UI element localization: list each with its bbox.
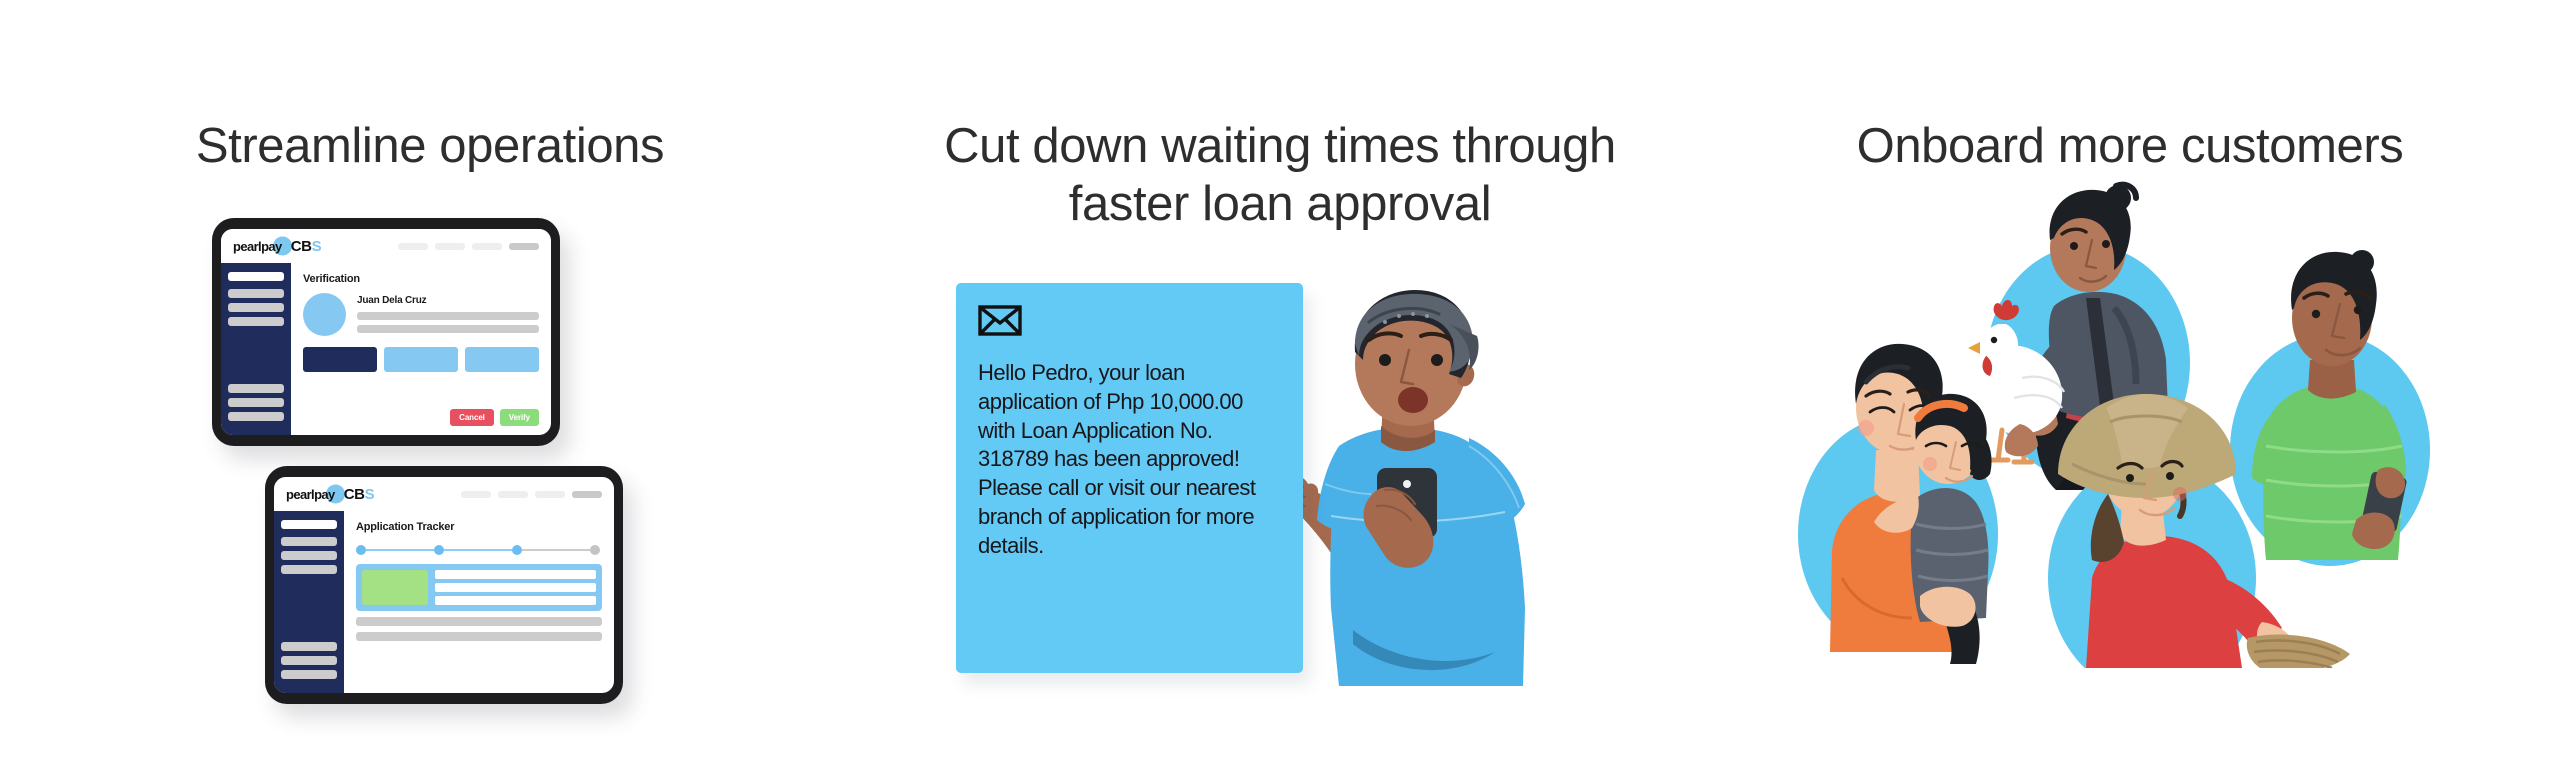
app-topbar: pearlpay CBS: [221, 229, 551, 263]
step-line-1: [366, 549, 434, 552]
logo-wordmark-2: pearlpay: [286, 487, 335, 502]
nav-placeholder-3[interactable]: [472, 243, 502, 250]
tracker-bar-1: [435, 570, 596, 579]
panel-heading-middle-line2: faster loan approval: [860, 176, 1700, 234]
pearlpay-logo-2: pearlpay: [286, 487, 335, 502]
sidebar-2-spacer: [281, 579, 337, 642]
tracker-row-placeholder-1: [356, 617, 602, 626]
document-tiles[interactable]: [303, 347, 539, 372]
topbar-nav-placeholders-2[interactable]: [461, 491, 602, 498]
sidebar-item-5[interactable]: [228, 384, 284, 393]
step-dot-3[interactable]: [512, 545, 522, 555]
tracker-content: Application Tracker: [344, 511, 614, 693]
panel-streamline-operations: Streamline operations pearlpay CBS: [0, 0, 860, 776]
nav-placeholder-1[interactable]: [398, 243, 428, 250]
document-tile-1[interactable]: [303, 347, 377, 372]
verify-button[interactable]: Verify: [500, 409, 539, 426]
tablet-tracker-screen: pearlpay CBS: [274, 477, 614, 693]
customer-name: Juan Dela Cruz: [357, 295, 539, 306]
cbs-wordmark: CBS: [291, 238, 321, 255]
sidebar-2-item-7[interactable]: [281, 670, 337, 679]
step-dot-1[interactable]: [356, 545, 366, 555]
step-dot-4[interactable]: [590, 545, 600, 555]
panel-heading-middle-line1: Cut down waiting times through: [860, 118, 1700, 176]
envelope-icon: [978, 305, 1022, 336]
tracker-highlight-card: [356, 564, 602, 611]
tablet-application-tracker: pearlpay CBS: [265, 466, 623, 704]
panel-heading-middle: Cut down waiting times through faster lo…: [860, 118, 1700, 234]
cancel-button[interactable]: Cancel: [450, 409, 494, 426]
customer-circle-parent-and-child: [1798, 344, 1998, 664]
tracker-bar-3: [435, 596, 596, 605]
tracker-detail-bars: [435, 570, 596, 605]
topbar-nav-placeholders[interactable]: [398, 243, 539, 250]
sidebar-item-2[interactable]: [228, 289, 284, 298]
nav-placeholder-2-4[interactable]: [572, 491, 602, 498]
tracker-bar-2: [435, 583, 596, 592]
sidebar-item-7[interactable]: [228, 412, 284, 421]
customer-portrait-circles: [1770, 178, 2470, 668]
logo-wordmark: pearlpay: [233, 239, 282, 254]
sidebar-2-item-2[interactable]: [281, 537, 337, 546]
screen-title-application-tracker: Application Tracker: [356, 521, 602, 533]
verification-actions: Cancel Verify: [303, 402, 539, 426]
sms-message-body: Hello Pedro, your loan application of Ph…: [978, 359, 1281, 561]
nav-placeholder-2-3[interactable]: [535, 491, 565, 498]
sms-notification-card: Hello Pedro, your loan application of Ph…: [956, 283, 1303, 673]
panel-heading-left: Streamline operations: [0, 118, 860, 176]
cbs-cb-text: CB: [291, 238, 312, 255]
avatar: [303, 293, 346, 336]
tablet-body: Verification Juan Dela Cruz: [221, 263, 551, 435]
sidebar-item-3[interactable]: [228, 303, 284, 312]
tablet-verification: pearlpay CBS: [212, 218, 560, 446]
nav-placeholder-2[interactable]: [435, 243, 465, 250]
customer-circle-man-with-phone: [2230, 250, 2430, 566]
nav-placeholder-2-1[interactable]: [461, 491, 491, 498]
tracker-row-placeholder-2: [356, 632, 602, 641]
application-progress-stepper[interactable]: [356, 545, 602, 555]
sidebar-2-item-4[interactable]: [281, 565, 337, 574]
sidebar-2-item-6[interactable]: [281, 656, 337, 665]
sidebar-2-item-3[interactable]: [281, 551, 337, 560]
sidebar-2-item-active[interactable]: [281, 520, 337, 529]
sidebar-item-active[interactable]: [228, 272, 284, 281]
cbs-s-text: S: [312, 238, 322, 255]
verification-content: Verification Juan Dela Cruz: [291, 263, 551, 435]
nav-placeholder-4[interactable]: [509, 243, 539, 250]
screen-title-verification: Verification: [303, 273, 539, 285]
sidebar-2-item-5[interactable]: [281, 642, 337, 651]
document-tile-3[interactable]: [465, 347, 539, 372]
panel-heading-right: Onboard more customers: [1700, 118, 2560, 176]
nav-placeholder-2-2[interactable]: [498, 491, 528, 498]
field-placeholder-1: [357, 312, 539, 320]
document-tile-2[interactable]: [384, 347, 458, 372]
field-placeholder-2: [357, 325, 539, 333]
app-topbar-2: pearlpay CBS: [274, 477, 614, 511]
customer-summary-row: Juan Dela Cruz: [303, 293, 539, 338]
promo-banner: Streamline operations pearlpay CBS: [0, 0, 2560, 776]
app-sidebar-2[interactable]: [274, 511, 344, 693]
sidebar-item-4[interactable]: [228, 317, 284, 326]
customer-fields: Juan Dela Cruz: [357, 293, 539, 338]
app-sidebar[interactable]: [221, 263, 291, 435]
cbs-wordmark-2: CBS: [344, 486, 374, 503]
sidebar-item-6[interactable]: [228, 398, 284, 407]
step-line-2: [444, 549, 512, 552]
status-block-approved: [362, 570, 428, 605]
pearlpay-logo: pearlpay: [233, 239, 282, 254]
cbs-cb-text-2: CB: [344, 486, 365, 503]
step-dot-2[interactable]: [434, 545, 444, 555]
cbs-s-text-2: S: [365, 486, 375, 503]
tablet-verification-screen: pearlpay CBS: [221, 229, 551, 435]
man-holding-smartphone-illustration: [1273, 278, 1583, 718]
sidebar-spacer: [228, 331, 284, 384]
step-line-3: [522, 549, 590, 552]
tablet-body-2: Application Tracker: [274, 511, 614, 693]
